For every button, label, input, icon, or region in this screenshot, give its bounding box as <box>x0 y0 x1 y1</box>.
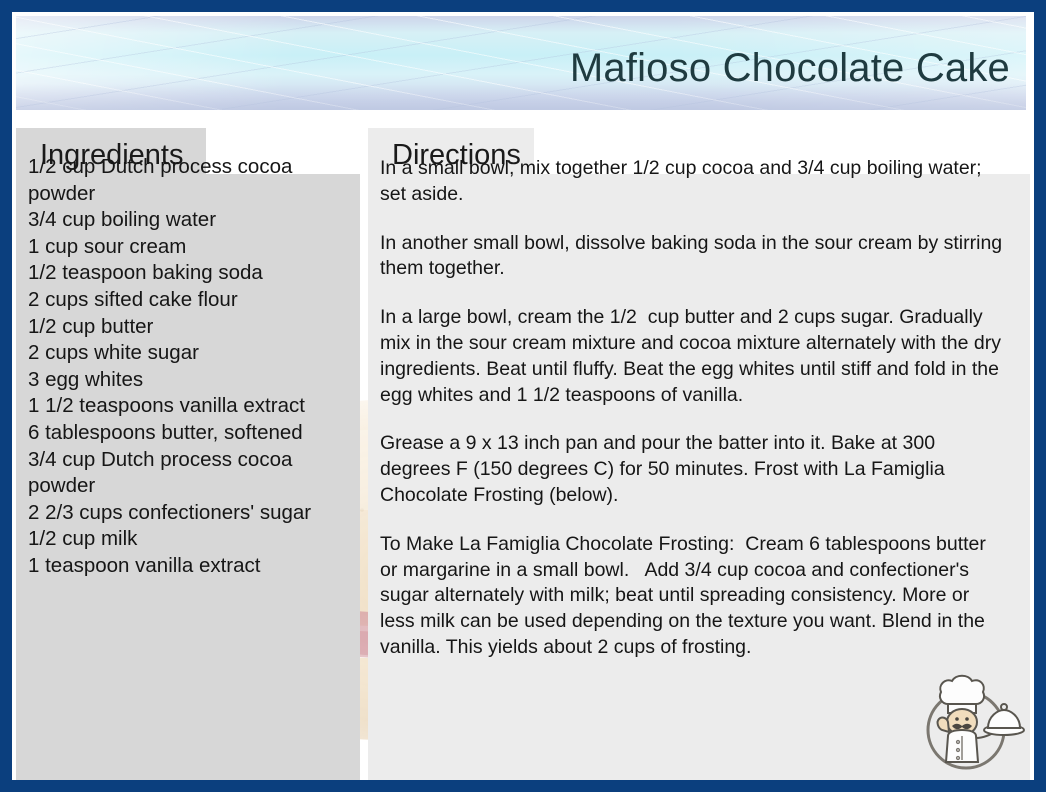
recipe-card: Mafioso Chocolate Cake <box>0 0 1046 792</box>
list-item: 1/2 cup milk <box>28 526 346 553</box>
list-item: 1 teaspoon vanilla extract <box>28 553 346 580</box>
page-title: Mafioso Chocolate Cake <box>570 44 1010 92</box>
direction-paragraph: In a small bowl, mix together 1/2 cup co… <box>380 156 1006 208</box>
list-item: 3/4 cup boiling water <box>28 207 346 234</box>
list-item: 1 1/2 teaspoons vanilla extract <box>28 393 346 420</box>
direction-paragraph: To Make La Famiglia Chocolate Frosting: … <box>380 532 1006 661</box>
header-banner: Mafioso Chocolate Cake <box>16 16 1026 110</box>
list-item: 2 2/3 cups confectioners' sugar <box>28 500 346 527</box>
list-item: 1/2 teaspoon baking soda <box>28 260 346 287</box>
list-item: 6 tablespoons butter, softened <box>28 420 346 447</box>
list-item: 2 cups sifted cake flour <box>28 287 346 314</box>
list-item: 3/4 cup Dutch process cocoa powder <box>28 447 346 500</box>
list-item: 1/2 cup Dutch process cocoa powder <box>28 154 346 207</box>
direction-paragraph: Grease a 9 x 13 inch pan and pour the ba… <box>380 431 1006 508</box>
list-item: 1 cup sour cream <box>28 234 346 261</box>
ingredients-column: Ingredients 1/2 cup Dutch process cocoa … <box>16 128 360 780</box>
recipe-canvas: Mafioso Chocolate Cake <box>12 12 1034 780</box>
directions-body: In a small bowl, mix together 1/2 cup co… <box>380 156 1006 661</box>
list-item: 3 egg whites <box>28 367 346 394</box>
list-item: 2 cups white sugar <box>28 340 346 367</box>
ingredients-list: 1/2 cup Dutch process cocoa powder 3/4 c… <box>28 154 346 580</box>
directions-column: Directions In a small bowl, mix together… <box>368 128 1030 780</box>
direction-paragraph: In a large bowl, cream the 1/2 cup butte… <box>380 305 1006 408</box>
list-item: 1/2 cup butter <box>28 314 346 341</box>
direction-paragraph: In another small bowl, dissolve baking s… <box>380 231 1006 283</box>
